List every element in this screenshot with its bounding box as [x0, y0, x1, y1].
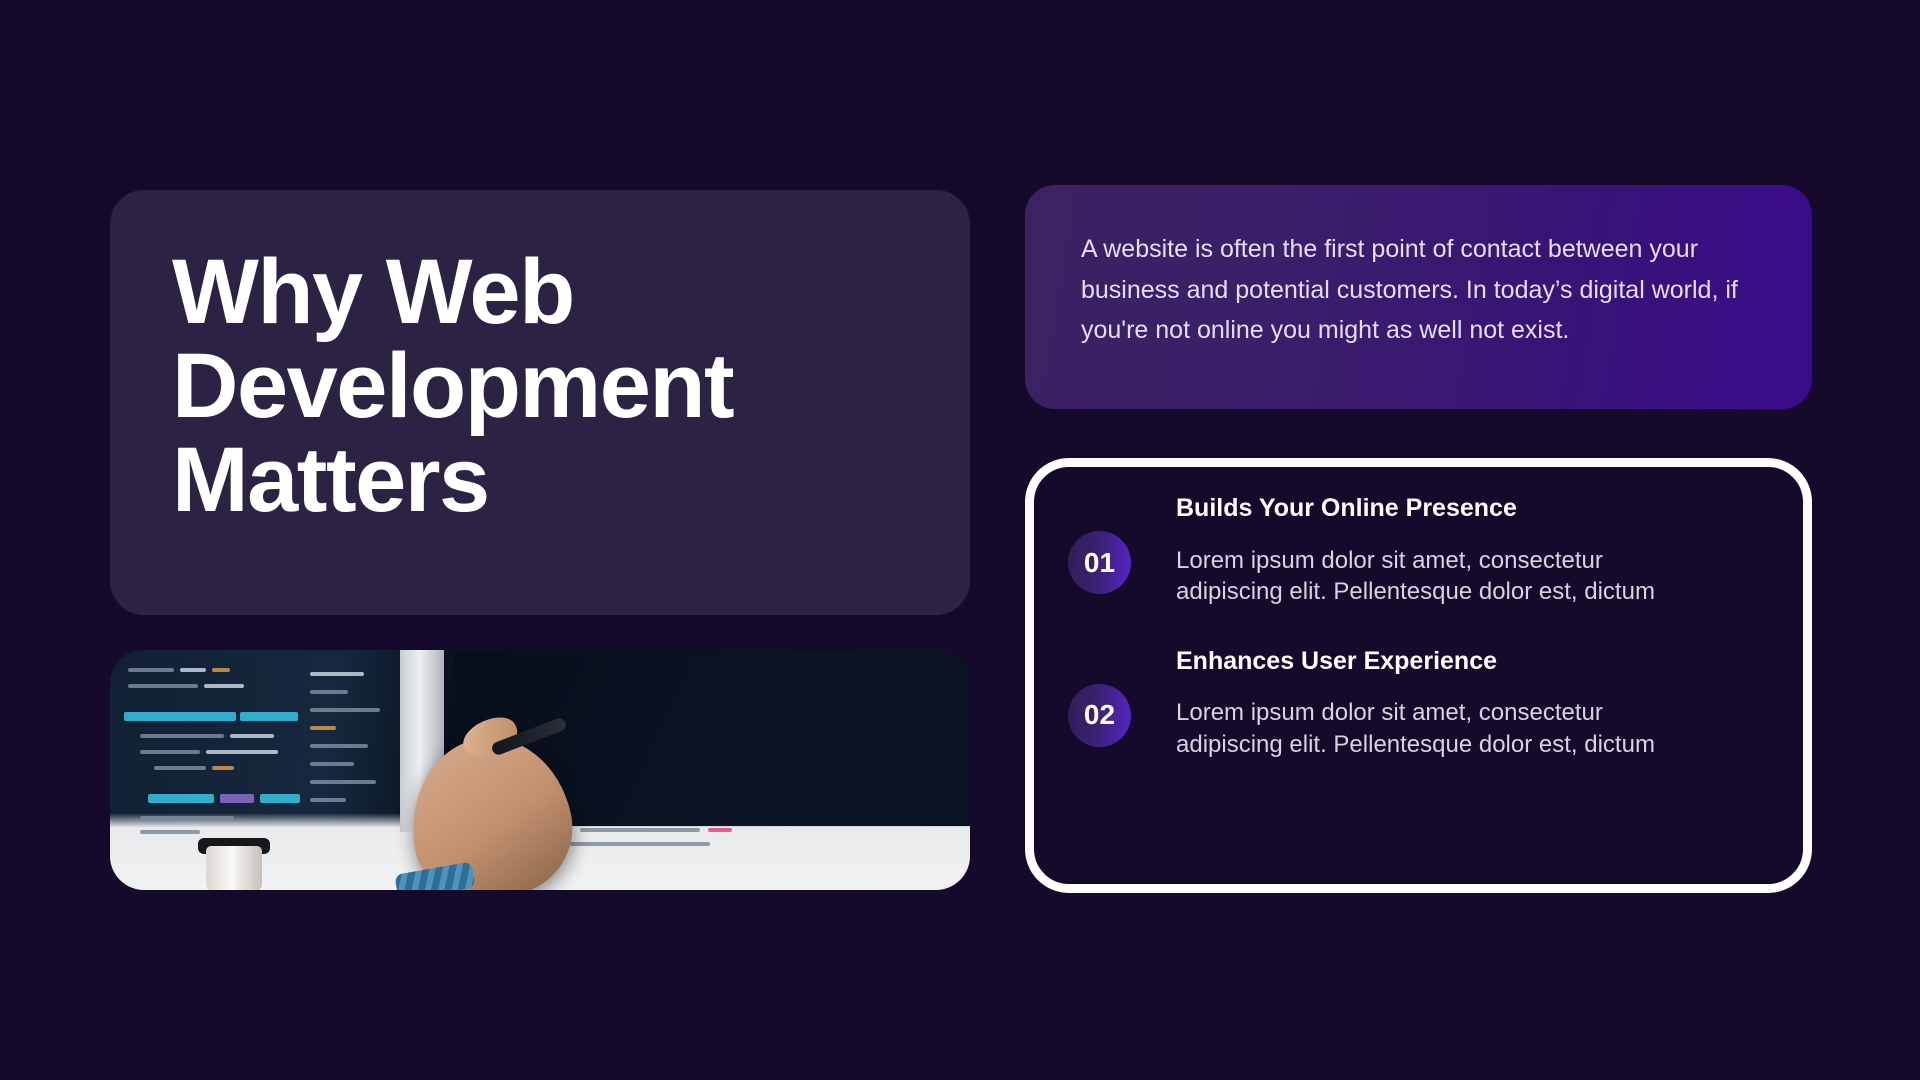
list-item-body: Builds Your Online Presence Lorem ipsum … [1176, 495, 1706, 608]
coffee-cup [206, 846, 262, 890]
list-item-title: Enhances User Experience [1176, 648, 1706, 676]
list-item: 02 Enhances User Experience Lorem ipsum … [1068, 648, 1759, 761]
intro-paragraph: A website is often the first point of co… [1081, 229, 1756, 351]
coding-workspace-image [110, 650, 970, 890]
list-item-body: Enhances User Experience Lorem ipsum dol… [1176, 648, 1706, 761]
slide-root: Why Web Development Matters [0, 0, 1920, 1080]
intro-card: A website is often the first point of co… [1025, 185, 1812, 409]
list-item-title: Builds Your Online Presence [1176, 495, 1706, 523]
benefits-list-card: 01 Builds Your Online Presence Lorem ips… [1025, 458, 1812, 893]
page-title: Why Web Development Matters [172, 246, 910, 527]
photo-card [110, 650, 970, 890]
list-item-description: Lorem ipsum dolor sit amet, consectetur … [1176, 697, 1706, 760]
list-item: 01 Builds Your Online Presence Lorem ips… [1068, 495, 1759, 608]
list-item-description: Lorem ipsum dolor sit amet, consectetur … [1176, 545, 1706, 608]
title-card: Why Web Development Matters [110, 190, 970, 615]
benefits-list: 01 Builds Your Online Presence Lorem ips… [1034, 467, 1803, 884]
item-number-badge: 02 [1068, 684, 1131, 747]
item-number-badge: 01 [1068, 531, 1131, 594]
